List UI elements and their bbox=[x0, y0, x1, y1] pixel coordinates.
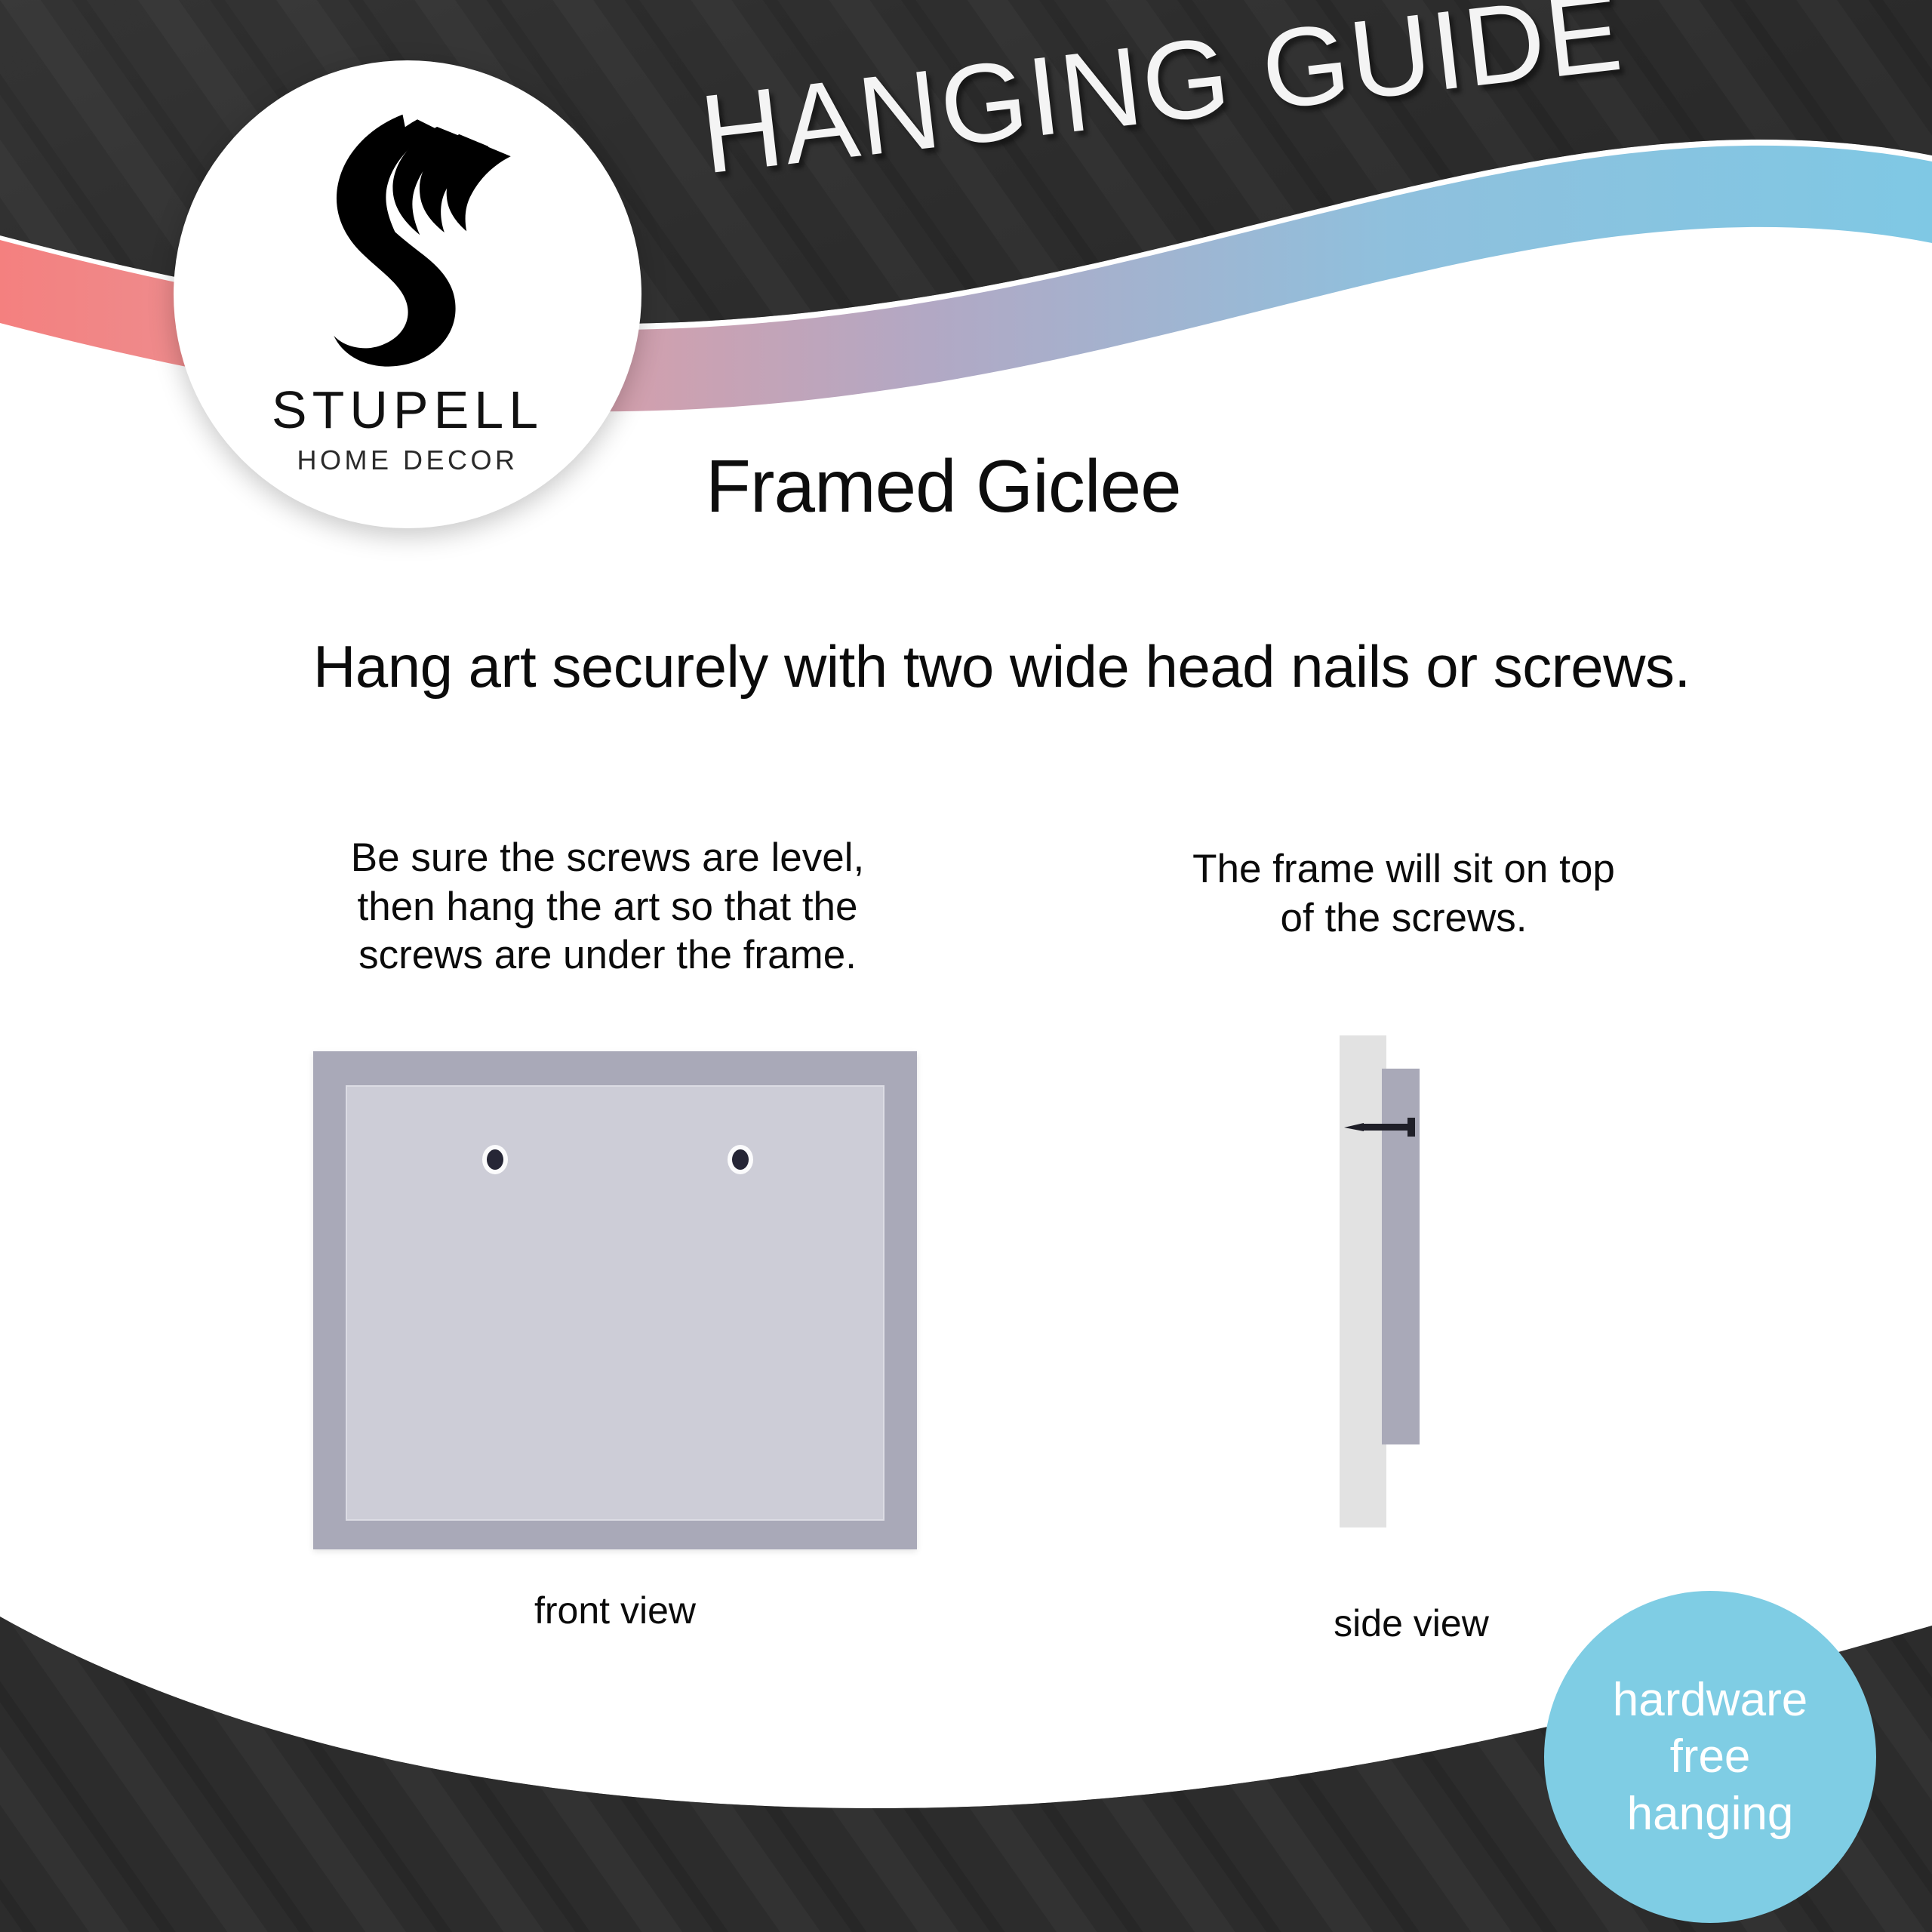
screw-marker-right bbox=[732, 1149, 749, 1170]
brand-tagline: HOME DECOR bbox=[297, 447, 518, 474]
badge-line: hanging bbox=[1627, 1786, 1794, 1843]
side-view-wall bbox=[1340, 1035, 1386, 1527]
caption-line: then hang the art so that the bbox=[302, 883, 913, 932]
caption-line: Be sure the screws are level, bbox=[302, 834, 913, 883]
brand-name: STUPELL bbox=[272, 383, 543, 436]
caption-line: screws are under the frame. bbox=[302, 931, 913, 980]
stupell-swoosh-logo-icon bbox=[283, 107, 532, 371]
hanging-guide-page: STUPELL HOME DECOR HANGING GUIDE Framed … bbox=[0, 0, 1932, 1932]
side-view-diagram bbox=[1340, 1035, 1558, 1534]
product-title: Framed Giclee bbox=[706, 444, 1181, 529]
frame-mat bbox=[346, 1085, 884, 1521]
hardware-free-hanging-badge: hardware free hanging bbox=[1544, 1591, 1876, 1923]
caption-line: of the screws. bbox=[1155, 894, 1653, 943]
badge-line: hardware bbox=[1613, 1672, 1807, 1729]
screw-marker-left bbox=[487, 1149, 503, 1170]
nail-icon bbox=[1344, 1115, 1423, 1138]
front-view-caption: Be sure the screws are level, then hang … bbox=[302, 834, 913, 980]
brand-logo-badge: STUPELL HOME DECOR bbox=[174, 60, 641, 528]
lead-instruction: Hang art securely with two wide head nai… bbox=[313, 632, 1690, 701]
front-view-frame-diagram bbox=[313, 1051, 917, 1549]
side-view-caption: The frame will sit on top of the screws. bbox=[1155, 845, 1653, 943]
caption-line: The frame will sit on top bbox=[1155, 845, 1653, 894]
badge-line: free bbox=[1670, 1728, 1751, 1786]
